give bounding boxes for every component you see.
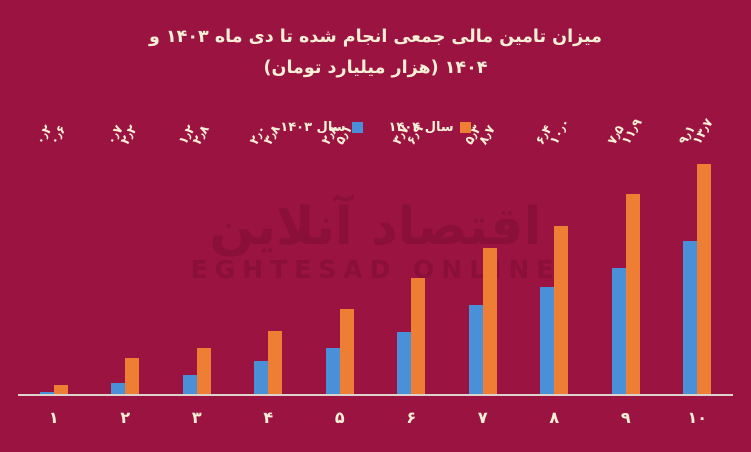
chart-title-line-1: میزان تامین مالی جمعی انجام شده تا دی ما… bbox=[0, 22, 751, 53]
chart-legend: سال ۱۴۰۴ سال ۱۴۰۳ bbox=[0, 120, 751, 135]
bar-1404[interactable]: ۰٫۶ bbox=[54, 150, 68, 395]
bar-group: ۰٫۷۲٫۲ bbox=[109, 150, 141, 395]
bar-rect-1404[interactable] bbox=[411, 278, 425, 395]
bar-1403[interactable]: ۷٫۵ bbox=[612, 150, 626, 395]
bar-rect-1404[interactable] bbox=[697, 164, 711, 395]
bar-rect-1403[interactable] bbox=[326, 348, 340, 395]
bar-1403[interactable]: ۱٫۲ bbox=[183, 150, 197, 395]
x-axis-tick-label: ۳ bbox=[177, 408, 217, 427]
legend-swatch-1404-icon bbox=[460, 122, 471, 133]
legend-item-1403[interactable]: سال ۱۴۰۳ bbox=[280, 120, 362, 135]
bar-rect-1404[interactable] bbox=[554, 226, 568, 395]
bar-rect-1403[interactable] bbox=[397, 332, 411, 395]
legend-label-1403: سال ۱۴۰۳ bbox=[280, 120, 345, 135]
x-axis-tick-label: ۲ bbox=[105, 408, 145, 427]
x-axis-tick-label: ۱۰ bbox=[677, 408, 717, 427]
bar-1403[interactable]: ۹٫۱ bbox=[683, 150, 697, 395]
legend-item-1404[interactable]: سال ۱۴۰۴ bbox=[389, 120, 471, 135]
bar-1404[interactable]: ۶٫۹ bbox=[411, 150, 425, 395]
x-axis-tick-label: ۸ bbox=[534, 408, 574, 427]
bar-rect-1404[interactable] bbox=[483, 248, 497, 395]
bar-rect-1403[interactable] bbox=[540, 287, 554, 395]
bar-1404[interactable]: ۱۳٫۷ bbox=[697, 150, 711, 395]
x-axis-tick-label: ۷ bbox=[463, 408, 503, 427]
bar-1403[interactable]: ۰٫۲ bbox=[40, 150, 54, 395]
bar-1403[interactable]: ۶٫۴ bbox=[540, 150, 554, 395]
bar-group: ۷٫۵۱۱٫۹ bbox=[610, 150, 642, 395]
bar-1404[interactable]: ۲٫۲ bbox=[125, 150, 139, 395]
bar-group: ۱٫۲۲٫۸ bbox=[181, 150, 213, 395]
x-axis-tick-label: ۵ bbox=[320, 408, 360, 427]
bar-group: ۰٫۲۰٫۶ bbox=[38, 150, 70, 395]
x-axis-line bbox=[18, 394, 733, 396]
bar-1403[interactable]: ۳٫۷ bbox=[397, 150, 411, 395]
bar-group: ۲٫۰۳٫۸ bbox=[252, 150, 284, 395]
chart-title-line-2: ۱۴۰۴ (هزار میلیارد تومان) bbox=[0, 53, 751, 84]
bar-1404[interactable]: ۱۰٫۰ bbox=[554, 150, 568, 395]
bar-group: ۲٫۸۵٫۱ bbox=[324, 150, 356, 395]
bar-1404[interactable]: ۳٫۸ bbox=[268, 150, 282, 395]
bar-1403[interactable]: ۲٫۰ bbox=[254, 150, 268, 395]
bar-rect-1404[interactable] bbox=[626, 194, 640, 395]
bar-rect-1404[interactable] bbox=[125, 358, 139, 395]
bar-1404[interactable]: ۸٫۷ bbox=[483, 150, 497, 395]
x-axis-ticks: ۱۲۳۴۵۶۷۸۹۱۰ bbox=[18, 402, 733, 436]
bar-rect-1403[interactable] bbox=[612, 268, 626, 395]
bar-rect-1404[interactable] bbox=[340, 309, 354, 395]
legend-label-1404: سال ۱۴۰۴ bbox=[389, 120, 454, 135]
bar-group: ۵٫۳۸٫۷ bbox=[467, 150, 499, 395]
bar-rect-1403[interactable] bbox=[469, 305, 483, 395]
x-axis-tick-label: ۹ bbox=[606, 408, 646, 427]
bar-1403[interactable]: ۲٫۸ bbox=[326, 150, 340, 395]
x-axis-tick-label: ۶ bbox=[391, 408, 431, 427]
x-axis-tick-label: ۱ bbox=[34, 408, 74, 427]
bar-rect-1404[interactable] bbox=[268, 331, 282, 395]
bar-1403[interactable]: ۰٫۷ bbox=[111, 150, 125, 395]
bar-group: ۳٫۷۶٫۹ bbox=[395, 150, 427, 395]
bar-rect-1403[interactable] bbox=[183, 375, 197, 395]
bar-rect-1403[interactable] bbox=[683, 241, 697, 395]
legend-swatch-1403-icon bbox=[352, 122, 363, 133]
bar-group: ۶٫۴۱۰٫۰ bbox=[538, 150, 570, 395]
bar-chart: اقتصاد آنلاین EGHTESAD ONLINE میزان تامی… bbox=[0, 0, 751, 452]
bar-rect-1403[interactable] bbox=[254, 361, 268, 395]
x-axis-tick-label: ۴ bbox=[248, 408, 288, 427]
bar-1404[interactable]: ۵٫۱ bbox=[340, 150, 354, 395]
bar-1403[interactable]: ۵٫۳ bbox=[469, 150, 483, 395]
bar-1404[interactable]: ۱۱٫۹ bbox=[626, 150, 640, 395]
chart-title: میزان تامین مالی جمعی انجام شده تا دی ما… bbox=[0, 22, 751, 84]
bar-rect-1404[interactable] bbox=[197, 348, 211, 395]
bar-group: ۹٫۱۱۳٫۷ bbox=[681, 150, 713, 395]
plot-area: ۰٫۲۰٫۶۰٫۷۲٫۲۱٫۲۲٫۸۲٫۰۳٫۸۲٫۸۵٫۱۳٫۷۶٫۹۵٫۳۸… bbox=[18, 150, 733, 395]
bar-1404[interactable]: ۲٫۸ bbox=[197, 150, 211, 395]
